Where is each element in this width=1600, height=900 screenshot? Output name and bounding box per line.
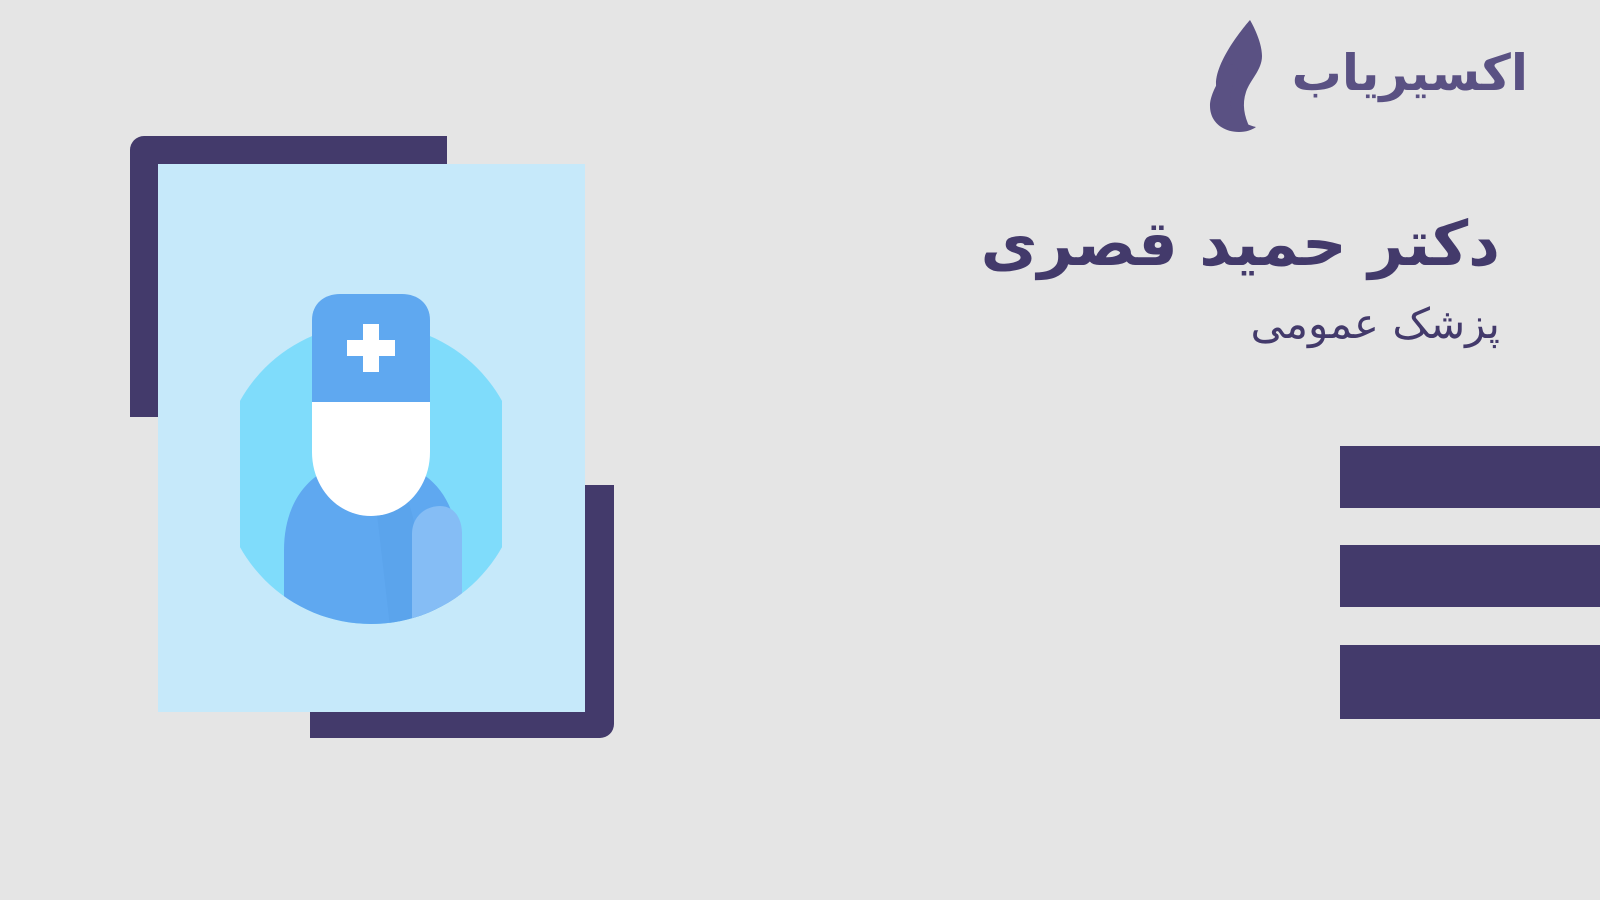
doctor-photo-card (158, 164, 585, 712)
brand-logo[interactable]: اکسیریاب (1200, 18, 1528, 134)
profile-banner: اکسیریاب دکتر حمید قصری پزشک عمومی (0, 0, 1600, 900)
accent-bar-2 (1340, 545, 1600, 607)
doctor-specialty: پزشک عمومی (860, 297, 1500, 352)
profile-heading-group: دکتر حمید قصری پزشک عمومی (860, 205, 1500, 351)
brand-name: اکسیریاب (1292, 48, 1528, 104)
accent-bar-1 (1340, 446, 1600, 508)
accent-bar-3 (1340, 645, 1600, 719)
flame-drop-logo-icon (1200, 18, 1278, 134)
doctor-photo-composition (0, 0, 700, 900)
page-title: دکتر حمید قصری (860, 205, 1500, 283)
